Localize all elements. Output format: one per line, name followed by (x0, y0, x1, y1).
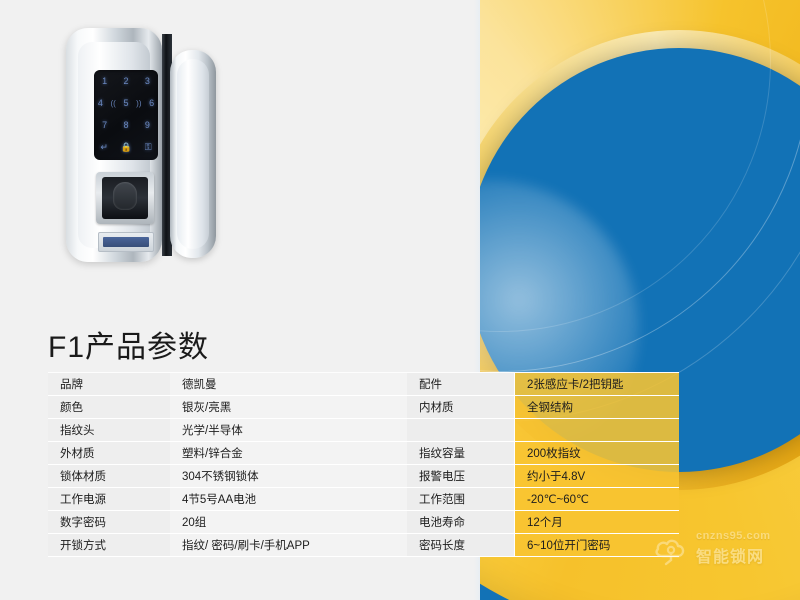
product-label-print (103, 237, 149, 247)
lock-handle-inner (177, 59, 209, 249)
key-4[interactable]: 4 (98, 99, 103, 108)
spec-label-right: 报警电压 (407, 465, 515, 488)
spec-label-left: 颜色 (48, 396, 170, 419)
keypad-row-3: 7 8 9 (94, 114, 158, 136)
spec-label-left: 工作电源 (48, 488, 170, 511)
spec-value-left: 德凯曼 (170, 373, 407, 396)
fingerprint-plate (96, 172, 154, 224)
spec-value-left: 银灰/亮黑 (170, 396, 407, 419)
back-arrow-icon[interactable]: ↵ (100, 142, 108, 153)
table-row: 锁体材质 304不锈钢锁体 报警电压 约小于4.8V (48, 465, 679, 488)
watermark-domain: cnzns95.com (696, 530, 771, 542)
spec-table-wrapper: 品牌 德凯曼 配件 2张感应卡/2把钥匙 颜色 银灰/亮黑 内材质 全钢结构 指… (48, 372, 630, 557)
spec-label-right: 工作范围 (407, 488, 515, 511)
spec-value-right: -20℃~60℃ (515, 488, 680, 511)
key-2[interactable]: 2 (123, 77, 128, 86)
spec-value-left: 光学/半导体 (170, 419, 407, 442)
key-7[interactable]: 7 (102, 121, 107, 130)
product-label (98, 232, 154, 252)
key-icon[interactable]: ⚿ (145, 142, 152, 153)
spec-value-left: 20组 (170, 511, 407, 534)
spec-label-right: 电池寿命 (407, 511, 515, 534)
spec-label-left: 数字密码 (48, 511, 170, 534)
product-photo-smart-lock: 1 2 3 4 (( 5 )) 6 7 8 9 (66, 24, 218, 266)
table-row: 工作电源 4节5号AA电池 工作范围 -20℃~60℃ (48, 488, 679, 511)
wave-left-icon: (( (111, 99, 116, 108)
spec-value-left: 指纹/ 密码/刷卡/手机APP (170, 534, 407, 557)
spec-value-right: 200枚指纹 (515, 442, 680, 465)
table-row: 颜色 银灰/亮黑 内材质 全钢结构 (48, 396, 679, 419)
spec-label-right: 密码长度 (407, 534, 515, 557)
watermark-text: cnzns95.com 智能锁网 (696, 530, 771, 567)
spec-label-left: 开锁方式 (48, 534, 170, 557)
spec-value-right: 2张感应卡/2把钥匙 (515, 373, 680, 396)
touch-keypad[interactable]: 1 2 3 4 (( 5 )) 6 7 8 9 (94, 70, 158, 160)
spec-value-left: 塑料/锌合金 (170, 442, 407, 465)
key-5[interactable]: 5 (123, 99, 128, 108)
watermark: cnzns95.com 智能锁网 (652, 528, 794, 578)
spec-label-right: 配件 (407, 373, 515, 396)
lock-front-face: 1 2 3 4 (( 5 )) 6 7 8 9 (78, 42, 150, 248)
key-9[interactable]: 9 (145, 121, 150, 130)
spec-label-right: 内材质 (407, 396, 515, 419)
lock-handle (170, 50, 216, 258)
keypad-row-1: 1 2 3 (94, 70, 158, 92)
spec-value-left: 304不锈钢锁体 (170, 465, 407, 488)
table-row: 数字密码 20组 电池寿命 12个月 (48, 511, 679, 534)
spec-label-left: 外材质 (48, 442, 170, 465)
spec-value-right: 全钢结构 (515, 396, 680, 419)
spec-label-right: 指纹容量 (407, 442, 515, 465)
lock-body: 1 2 3 4 (( 5 )) 6 7 8 9 (66, 28, 162, 262)
spec-table: 品牌 德凯曼 配件 2张感应卡/2把钥匙 颜色 银灰/亮黑 内材质 全钢结构 指… (48, 372, 679, 557)
key-8[interactable]: 8 (123, 121, 128, 130)
spec-label-left: 锁体材质 (48, 465, 170, 488)
keypad-row-2: 4 (( 5 )) 6 (94, 92, 158, 114)
spec-label-right (407, 419, 515, 442)
key-6[interactable]: 6 (149, 99, 154, 108)
wave-right-icon: )) (136, 99, 141, 108)
cloud-lock-icon (652, 534, 690, 572)
spec-value-right (515, 419, 680, 442)
page-title: F1产品参数 (48, 322, 209, 366)
table-row: 指纹头 光学/半导体 (48, 419, 679, 442)
table-row: 开锁方式 指纹/ 密码/刷卡/手机APP 密码长度 6~10位开门密码 (48, 534, 679, 557)
spec-label-left: 品牌 (48, 373, 170, 396)
lock-icon[interactable]: 🔒 (121, 142, 132, 153)
spec-table-body: 品牌 德凯曼 配件 2张感应卡/2把钥匙 颜色 银灰/亮黑 内材质 全钢结构 指… (48, 373, 679, 557)
watermark-name: 智能锁网 (696, 543, 771, 567)
spec-value-left: 4节5号AA电池 (170, 488, 407, 511)
slide-canvas: 1 2 3 4 (( 5 )) 6 7 8 9 (0, 0, 800, 600)
table-row: 品牌 德凯曼 配件 2张感应卡/2把钥匙 (48, 373, 679, 396)
key-1[interactable]: 1 (102, 77, 107, 86)
key-3[interactable]: 3 (145, 77, 150, 86)
keypad-row-4: ↵ 🔒 ⚿ (94, 136, 158, 158)
fingerprint-oval (113, 182, 137, 210)
table-row: 外材质 塑料/锌合金 指纹容量 200枚指纹 (48, 442, 679, 465)
spec-value-right: 约小于4.8V (515, 465, 680, 488)
fingerprint-sensor[interactable] (102, 177, 148, 219)
spec-label-left: 指纹头 (48, 419, 170, 442)
